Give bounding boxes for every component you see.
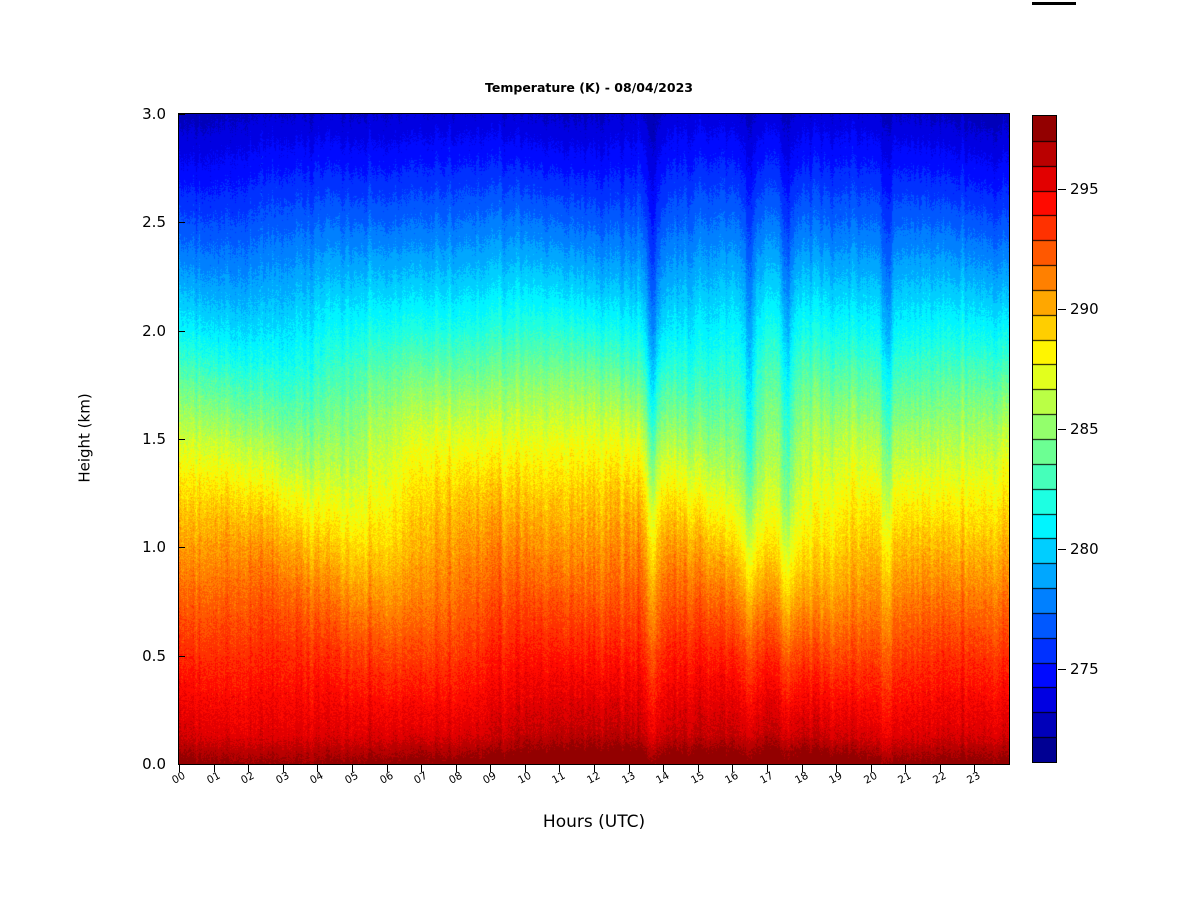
colorbar-tick-label: 275 bbox=[1070, 660, 1099, 678]
y-axis-tick-mark bbox=[178, 222, 185, 223]
x-axis-tick-label: 02 bbox=[239, 770, 256, 787]
colorbar-tick-mark bbox=[1058, 189, 1066, 190]
x-axis-tick-label: 04 bbox=[308, 770, 325, 787]
y-axis-tick-mark bbox=[178, 331, 185, 332]
y-axis-tick-mark bbox=[178, 547, 185, 548]
x-axis-tick-label: 11 bbox=[550, 770, 567, 787]
x-axis-tick-label: 09 bbox=[481, 770, 498, 787]
x-axis-tick-label: 23 bbox=[965, 770, 982, 787]
x-axis-tick-label: 20 bbox=[862, 770, 879, 787]
colorbar-gradient bbox=[1033, 116, 1056, 762]
x-axis-tick-label: 01 bbox=[205, 770, 222, 787]
colorbar-tick-mark bbox=[1058, 429, 1066, 430]
x-axis-tick-label: 10 bbox=[516, 770, 533, 787]
colorbar-tick-mark bbox=[1058, 309, 1066, 310]
x-axis-tick-label: 15 bbox=[689, 770, 706, 787]
colorbar-tick-label: 285 bbox=[1070, 420, 1099, 438]
y-axis-title: Height (km) bbox=[76, 393, 94, 482]
figure-canvas: Temperature (K) - 08/04/2023 0.00.51.01.… bbox=[0, 0, 1200, 900]
colorbar-tick-label: 290 bbox=[1070, 300, 1099, 318]
x-axis-tick-label: 22 bbox=[931, 770, 948, 787]
x-axis-tick-label: 07 bbox=[412, 770, 429, 787]
colorbar-tick-label: 280 bbox=[1070, 540, 1099, 558]
x-axis-tick-label: 05 bbox=[343, 770, 360, 787]
x-axis-tick-label: 12 bbox=[585, 770, 602, 787]
x-axis-tick-label: 00 bbox=[170, 770, 187, 787]
y-axis-tick-mark bbox=[178, 764, 185, 765]
y-axis-tick-mark bbox=[178, 114, 185, 115]
y-axis-tick-mark bbox=[178, 439, 185, 440]
x-axis-title: Hours (UTC) bbox=[178, 812, 1010, 832]
x-axis-tick-label: 19 bbox=[827, 770, 844, 787]
x-axis-tick-label: 13 bbox=[620, 770, 637, 787]
x-axis-tick-label: 17 bbox=[758, 770, 775, 787]
x-axis-tick-label: 06 bbox=[378, 770, 395, 787]
x-axis-tick-labels: 0001020304050607080910111213141516171819… bbox=[0, 0, 1200, 900]
x-axis-tick-label: 21 bbox=[896, 770, 913, 787]
x-axis-tick-label: 14 bbox=[654, 770, 671, 787]
x-axis-tick-label: 18 bbox=[793, 770, 810, 787]
colorbar-tick-mark bbox=[1058, 669, 1066, 670]
x-axis-tick-label: 16 bbox=[723, 770, 740, 787]
colorbar bbox=[1032, 115, 1057, 763]
x-axis-tick-label: 03 bbox=[274, 770, 291, 787]
y-axis-tick-mark bbox=[178, 656, 185, 657]
colorbar-tick-label: 295 bbox=[1070, 180, 1099, 198]
x-axis-tick-label: 08 bbox=[447, 770, 464, 787]
colorbar-tick-mark bbox=[1058, 549, 1066, 550]
